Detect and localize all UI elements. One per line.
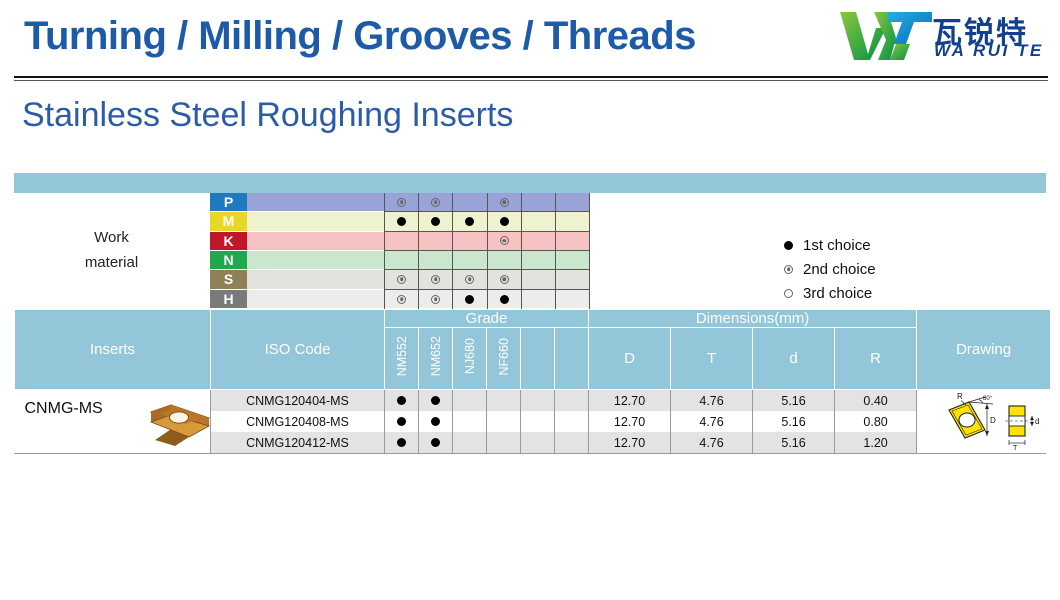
work-material-cell-s-2 — [419, 270, 452, 289]
work-material-cell-p-5 — [522, 193, 555, 212]
second-choice-marker — [397, 275, 406, 284]
grade-cell-1 — [385, 432, 419, 453]
iso-code-cell: CNMG120408-MS — [211, 411, 385, 432]
work-material-key-s: S — [210, 270, 247, 289]
first-choice-marker — [397, 396, 406, 405]
grade-cell-4 — [487, 411, 521, 432]
insert-spec-table: Inserts ISO Code Grade Dimensions(mm) Dr… — [14, 309, 1051, 453]
second-choice-marker — [500, 275, 509, 284]
header-grade-col-1: NM552 — [385, 328, 419, 390]
header-grade-label-3: NJ680 — [463, 338, 477, 374]
dimension-cell-T: 4.76 — [671, 390, 753, 412]
work-material-grid-column-4 — [488, 193, 522, 309]
legend-label-2: 2nd choice — [803, 261, 876, 278]
header-tagline: Turning / Milling / Grooves / Threads — [24, 14, 696, 59]
work-material-cell-n-5 — [522, 251, 555, 270]
dimension-cell-T: 4.76 — [671, 411, 753, 432]
work-material-cell-m-4 — [488, 212, 521, 231]
header-grade-col-5 — [521, 328, 555, 390]
header-grade-label-2: NM652 — [429, 336, 443, 376]
dimension-cell-R: 0.80 — [835, 411, 917, 432]
third-choice-marker — [784, 289, 793, 298]
drawing-label-D: D — [990, 416, 996, 425]
work-material-section: Work material PMKNSH 1st choice2nd choic… — [14, 193, 1046, 309]
dimension-cell-D: 12.70 — [589, 411, 671, 432]
grade-cell-1 — [385, 390, 419, 412]
grade-cell-2 — [419, 390, 453, 412]
work-material-cell-h-4 — [488, 290, 521, 309]
work-material-cell-n-1 — [385, 251, 418, 270]
header-grade-col-3: NJ680 — [453, 328, 487, 390]
header-divider-thick — [14, 76, 1048, 78]
work-material-key-m: M — [210, 212, 247, 231]
first-choice-marker — [500, 295, 509, 304]
work-material-cell-k-5 — [522, 232, 555, 251]
work-material-choice-grid — [384, 193, 590, 309]
page-title: Stainless Steel Roughing Inserts — [22, 96, 513, 135]
second-choice-marker — [500, 236, 509, 245]
second-choice-marker — [431, 295, 440, 304]
company-logo: 瓦锐特 WA RUI TE — [838, 8, 1050, 66]
grade-cell-4 — [487, 390, 521, 412]
work-material-cell-m-3 — [453, 212, 486, 231]
first-choice-marker — [397, 217, 406, 226]
second-choice-marker — [431, 275, 440, 284]
header-grade: Grade — [385, 310, 589, 328]
grade-cell-3 — [453, 390, 487, 412]
work-material-cell-k-1 — [385, 232, 418, 251]
second-choice-marker — [397, 295, 406, 304]
work-material-cell-n-6 — [556, 251, 589, 270]
work-material-grid-column-2 — [419, 193, 453, 309]
work-material-cell-k-2 — [419, 232, 452, 251]
dimension-cell-d: 5.16 — [753, 411, 835, 432]
work-material-grid-column-3 — [453, 193, 487, 309]
work-material-cell-s-5 — [522, 270, 555, 289]
drawing-label-d: d — [1035, 417, 1039, 426]
header-dimension-R: R — [835, 328, 917, 390]
work-material-cell-m-5 — [522, 212, 555, 231]
work-material-label-line1: Work — [94, 226, 129, 251]
work-material-label-line2: material — [85, 251, 138, 276]
table-header-row-top: Inserts ISO Code Grade Dimensions(mm) Dr… — [15, 310, 1051, 328]
header-inserts: Inserts — [15, 310, 211, 390]
grade-cell-2 — [419, 411, 453, 432]
grade-cell-3 — [453, 411, 487, 432]
iso-code-cell: CNMG120412-MS — [211, 432, 385, 453]
dimension-cell-D: 12.70 — [589, 390, 671, 412]
work-material-key-k: K — [210, 232, 247, 251]
dimension-cell-R: 0.40 — [835, 390, 917, 412]
work-material-cell-n-4 — [488, 251, 521, 270]
header-dimensions: Dimensions(mm) — [589, 310, 917, 328]
first-choice-marker — [431, 217, 440, 226]
second-choice-marker — [465, 275, 474, 284]
work-material-cell-p-1 — [385, 193, 418, 212]
insert-family-name: CNMG-MS — [25, 400, 103, 418]
grade-cell-5 — [521, 432, 555, 453]
work-material-cell-p-3 — [453, 193, 486, 212]
work-material-cell-h-2 — [419, 290, 452, 309]
logo-mark-icon — [838, 10, 934, 62]
work-material-cell-h-3 — [453, 290, 486, 309]
grade-cell-5 — [521, 411, 555, 432]
work-material-cell-m-2 — [419, 212, 452, 231]
work-material-grid-column-6 — [556, 193, 590, 309]
grade-cell-6 — [555, 432, 589, 453]
header-drawing: Drawing — [917, 310, 1051, 390]
content-block: Work material PMKNSH 1st choice2nd choic… — [14, 173, 1046, 454]
work-material-cell-k-6 — [556, 232, 589, 251]
work-material-cell-s-3 — [453, 270, 486, 289]
work-material-key-p: P — [210, 193, 247, 212]
work-material-cell-m-6 — [556, 212, 589, 231]
first-choice-marker — [431, 438, 440, 447]
legend-item-2: 2nd choice — [784, 257, 876, 281]
insert-family-cell: CNMG-MS — [15, 390, 211, 454]
work-material-cell-p-4 — [488, 193, 521, 212]
dimension-cell-d: 5.16 — [753, 390, 835, 412]
grade-cell-6 — [555, 411, 589, 432]
legend-item-1: 1st choice — [784, 233, 876, 257]
work-material-key-n: N — [210, 251, 247, 270]
header-grade-col-6 — [555, 328, 589, 390]
second-choice-marker — [431, 198, 440, 207]
work-material-grid-column-5 — [522, 193, 556, 309]
table-body: CNMG-MSCNMG120404-MS12.704.765.160.40R80… — [15, 390, 1051, 454]
work-material-grid-column-1 — [385, 193, 419, 309]
work-material-key-h: H — [210, 290, 247, 309]
second-choice-marker — [397, 198, 406, 207]
work-material-cell-n-2 — [419, 251, 452, 270]
work-material-cell-p-2 — [419, 193, 452, 212]
work-material-cell-s-1 — [385, 270, 418, 289]
grade-cell-6 — [555, 390, 589, 412]
first-choice-marker — [431, 396, 440, 405]
grade-cell-1 — [385, 411, 419, 432]
work-material-cell-h-1 — [385, 290, 418, 309]
dimension-cell-R: 1.20 — [835, 432, 917, 453]
technical-drawing-icon: R80°DdT — [923, 392, 1045, 452]
first-choice-marker — [500, 217, 509, 226]
header-grade-label-4: NF660 — [497, 338, 511, 376]
drawing-label-angle: 80° — [983, 396, 993, 402]
work-material-cell-p-6 — [556, 193, 589, 212]
legend-item-3: 3rd choice — [784, 281, 876, 305]
header-dimension-D: D — [589, 328, 671, 390]
second-choice-marker — [500, 198, 509, 207]
dimension-cell-T: 4.76 — [671, 432, 753, 453]
page-header: Turning / Milling / Grooves / Threads 瓦锐… — [0, 0, 1060, 72]
header-grade-col-2: NM652 — [419, 328, 453, 390]
first-choice-marker — [431, 417, 440, 426]
logo-english-text: WA RUI TE — [934, 41, 1044, 61]
work-material-cell-k-3 — [453, 232, 486, 251]
drawing-cell: R80°DdT — [917, 390, 1051, 454]
legend-label-1: 1st choice — [803, 237, 871, 254]
work-material-cell-h-5 — [522, 290, 555, 309]
first-choice-marker — [465, 295, 474, 304]
header-iso-code: ISO Code — [211, 310, 385, 390]
header-dimension-T: T — [671, 328, 753, 390]
first-choice-marker — [465, 217, 474, 226]
work-material-cell-s-4 — [488, 270, 521, 289]
first-choice-marker — [397, 417, 406, 426]
grade-cell-4 — [487, 432, 521, 453]
choice-legend: 1st choice2nd choice3rd choice — [784, 233, 876, 305]
dimension-cell-D: 12.70 — [589, 432, 671, 453]
header-divider-thin — [14, 80, 1048, 81]
drawing-label-r: R — [957, 392, 963, 401]
header-grade-label-1: NM552 — [395, 336, 409, 376]
work-material-label: Work material — [14, 193, 209, 309]
header-grade-col-4: NF660 — [487, 328, 521, 390]
first-choice-marker — [397, 438, 406, 447]
insert-photo-icon — [145, 396, 217, 448]
dimension-cell-d: 5.16 — [753, 432, 835, 453]
grade-cell-3 — [453, 432, 487, 453]
work-material-cell-k-4 — [488, 232, 521, 251]
work-material-cell-m-1 — [385, 212, 418, 231]
work-material-cell-s-6 — [556, 270, 589, 289]
first-choice-marker — [784, 241, 793, 250]
top-accent-bar — [14, 173, 1046, 193]
grade-cell-2 — [419, 432, 453, 453]
work-material-cell-n-3 — [453, 251, 486, 270]
table-row[interactable]: CNMG-MSCNMG120404-MS12.704.765.160.40R80… — [15, 390, 1051, 412]
grade-cell-5 — [521, 390, 555, 412]
header-dimension-d: d — [753, 328, 835, 390]
table-bottom-border — [14, 453, 1046, 454]
work-material-cell-h-6 — [556, 290, 589, 309]
iso-code-cell: CNMG120404-MS — [211, 390, 385, 412]
second-choice-marker — [784, 265, 793, 274]
drawing-label-T: T — [1013, 445, 1018, 452]
legend-label-3: 3rd choice — [803, 285, 872, 302]
